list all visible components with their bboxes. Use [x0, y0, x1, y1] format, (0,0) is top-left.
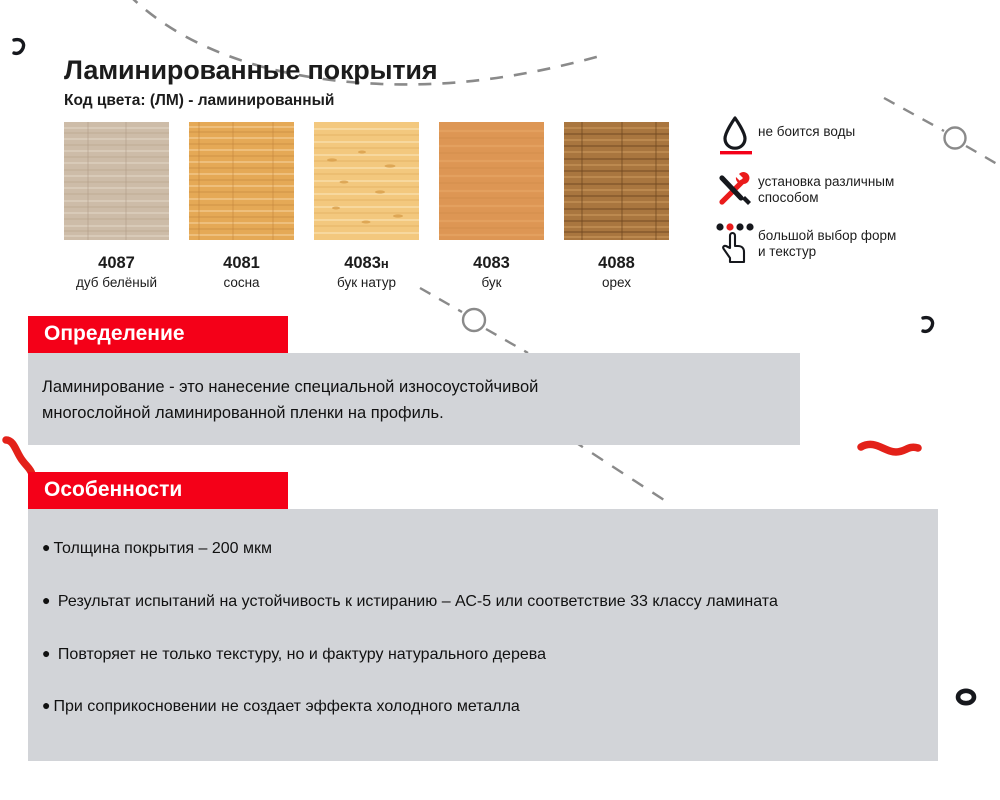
list-item-text: Повторяет не только текстуру, но и факту…	[58, 646, 546, 663]
feature-list: не боится воды установка различным спосо…	[714, 114, 974, 276]
swatch-code: 4081	[189, 254, 294, 273]
feature-label-line2: способом	[758, 190, 819, 205]
swatch-code-suffix: н	[381, 256, 389, 271]
list-item-text: Толщина покрытия – 200 мкм	[53, 540, 272, 557]
swatch-chip-4083[interactable]	[439, 122, 544, 240]
list-item: ●При соприкосновении не создает эффекта …	[42, 695, 912, 720]
swatch-code: 4083	[439, 254, 544, 273]
bullet-marker: ●	[42, 539, 50, 555]
swatch-code: 4083н	[314, 254, 419, 273]
swatch-item[interactable]: 4083 бук	[439, 122, 544, 291]
swatch-name: дуб белёный	[64, 275, 169, 291]
feature-label: не боится воды	[758, 114, 855, 140]
header-block: Ламинированные покрытия Код цвета: (ЛМ) …	[64, 56, 437, 110]
swatch-item[interactable]: 4083н бук натур	[314, 122, 419, 291]
swatch-code: 4088	[564, 254, 669, 273]
definition-section: Определение Ламинирование - это нанесени…	[28, 316, 800, 445]
poster-root: Ламинированные покрытия Код цвета: (ЛМ) …	[0, 0, 1000, 800]
swatch-code-value: 4087	[98, 254, 135, 272]
list-item: ● Повторяет не только текстуру, но и фак…	[42, 643, 912, 668]
red-squiggle-left	[6, 440, 32, 474]
feature-label-line1: большой выбор форм	[758, 228, 896, 243]
swatch-code: 4087	[64, 254, 169, 273]
features-heading: Особенности	[28, 472, 288, 509]
red-squiggle-right	[861, 444, 918, 452]
definition-text: Ламинирование - это нанесение специально…	[42, 375, 742, 426]
swatch-code-value: 4088	[598, 254, 635, 272]
wood-grain-icon	[314, 122, 419, 240]
swatch-item[interactable]: 4088 орех	[564, 122, 669, 291]
feature-label-line1: не боится воды	[758, 124, 855, 139]
definition-body: Ламинирование - это нанесение специально…	[28, 353, 800, 445]
wood-grain-icon	[439, 122, 544, 240]
page-title: Ламинированные покрытия	[64, 56, 437, 86]
feature-label-line1: установка различным	[758, 174, 894, 189]
page-subtitle: Код цвета: (ЛМ) - ламинированный	[64, 92, 437, 110]
water-drop-icon	[714, 114, 758, 156]
bullet-marker: ●	[42, 697, 50, 713]
swatch-code-value: 4081	[223, 254, 260, 272]
hand-dots-icon	[714, 222, 758, 264]
dashed-line-mid-upper	[420, 288, 462, 312]
ring-mark-bottom-right	[958, 691, 974, 703]
swatch-chip-4081[interactable]	[189, 122, 294, 240]
list-item: ● Результат испытаний на устойчивость к …	[42, 590, 912, 615]
bullet-marker: ●	[42, 645, 50, 661]
definition-line-2: многослойной ламинированной пленки на пр…	[42, 404, 444, 422]
feature-label-line2: и текстур	[758, 244, 816, 259]
swatch-item[interactable]: 4081 сосна	[189, 122, 294, 291]
feature-item-water: не боится воды	[714, 114, 974, 156]
swatch-chip-4083n[interactable]	[314, 122, 419, 240]
list-item: ●Толщина покрытия – 200 мкм	[42, 537, 912, 562]
swatch-row: 4087 дуб белёный	[64, 122, 669, 291]
swatch-name: орех	[564, 275, 669, 291]
swatch-code-value: 4083	[344, 254, 381, 272]
features-body: ●Толщина покрытия – 200 мкм ● Результат …	[28, 509, 938, 761]
swatch-name: сосна	[189, 275, 294, 291]
comma-mark-top-left	[14, 40, 24, 54]
swatch-name: бук натур	[314, 275, 419, 291]
definition-heading: Определение	[28, 316, 288, 353]
swatch-code-value: 4083	[473, 254, 510, 272]
comma-mark-right	[923, 318, 933, 332]
feature-label: установка различным способом	[758, 168, 894, 205]
swatch-item[interactable]: 4087 дуб белёный	[64, 122, 169, 291]
bullet-marker: ●	[42, 592, 50, 608]
list-item-text: При соприкосновении не создает эффекта х…	[53, 698, 519, 715]
wood-grain-icon	[64, 122, 169, 240]
feature-item-choice: большой выбор форм и текстур	[714, 222, 974, 264]
swatch-chip-4087[interactable]	[64, 122, 169, 240]
list-item-text: Результат испытаний на устойчивость к ис…	[58, 593, 778, 610]
swatch-chip-4088[interactable]	[564, 122, 669, 240]
definition-line-1: Ламинирование - это нанесение специально…	[42, 378, 538, 396]
features-section: Особенности ●Толщина покрытия – 200 мкм …	[28, 472, 938, 761]
tools-icon	[714, 168, 758, 210]
feature-item-tools: установка различным способом	[714, 168, 974, 210]
wood-grain-icon	[564, 122, 669, 240]
feature-label: большой выбор форм и текстур	[758, 222, 896, 259]
wood-grain-icon	[189, 122, 294, 240]
swatch-name: бук	[439, 275, 544, 291]
